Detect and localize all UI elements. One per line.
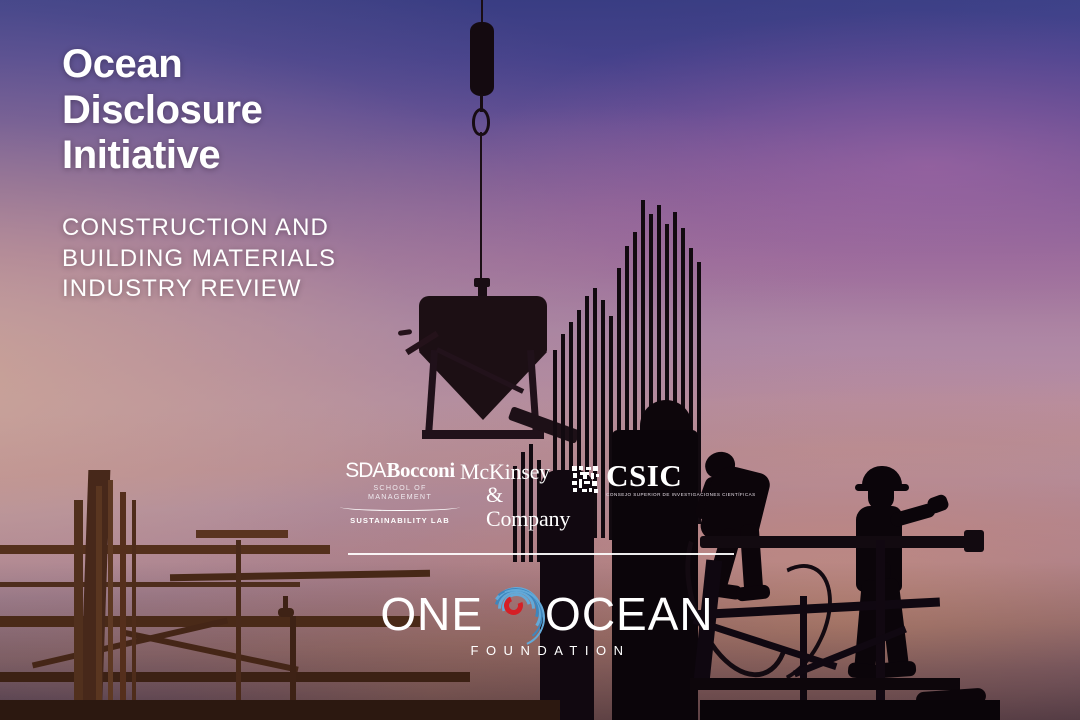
- oof-word-ocean: OCEAN: [545, 591, 714, 637]
- title-line-3: Initiative: [62, 133, 492, 179]
- scaffold-post-6: [236, 540, 241, 720]
- scaffold-rail-2: [0, 582, 300, 587]
- scaffold-working-deck: [690, 678, 960, 690]
- oof-word-one: ONE: [380, 591, 483, 637]
- one-ocean-foundation-logo: ONE OCEAN FOUNDATION: [392, 588, 702, 666]
- page-subtitle: CONSTRUCTION AND BUILDING MATERIALS INDU…: [62, 213, 492, 305]
- mckinsey-line-1: McKinsey: [460, 460, 570, 483]
- scaffold-post-1: [74, 500, 83, 720]
- scaffold-deck: [0, 700, 560, 720]
- sda-bocconi-wordmark: SDA Bocconi: [340, 460, 460, 481]
- subtitle-line-2: BUILDING MATERIALS: [62, 244, 492, 275]
- one-ocean-spiral-mark-icon: [487, 587, 541, 641]
- scaffold-rail-4: [0, 672, 470, 682]
- sda-bocconi-unit: SUSTAINABILITY LAB: [340, 516, 460, 525]
- cover-slide: Ocean Disclosure Initiative CONSTRUCTION…: [0, 0, 1080, 720]
- csic-emblem-icon: [570, 464, 600, 494]
- csic-tagline: CONSEJO SUPERIOR DE INVESTIGACIONES CIEN…: [606, 493, 756, 498]
- scaffold-post-5: [132, 500, 136, 720]
- scaffold-post-3: [108, 480, 113, 720]
- csic-wordmark: CSIC: [606, 460, 756, 491]
- scaffold-standard-post: [876, 540, 885, 720]
- guard-rail: [700, 536, 980, 548]
- guard-rail-cap: [964, 530, 984, 552]
- csic-text-block: CSIC CONSEJO SUPERIOR DE INVESTIGACIONES…: [606, 460, 756, 498]
- scaffold-top-beam: [196, 530, 288, 538]
- page-title: Ocean Disclosure Initiative: [62, 42, 492, 179]
- sda-bocconi-prefix: SDA: [345, 460, 385, 481]
- title-line-1: Ocean: [62, 42, 492, 88]
- mckinsey-line-2: & Company: [460, 483, 570, 530]
- scaffold-rail-1: [0, 545, 330, 554]
- sda-bocconi-name: Bocconi: [386, 460, 454, 481]
- scaffold-post-2: [96, 486, 102, 720]
- scaffold-lower-deck: [700, 700, 1000, 720]
- scaffold-post-4: [120, 492, 126, 720]
- sda-bocconi-logo: SDA Bocconi SCHOOL OF MANAGEMENT SUSTAIN…: [340, 460, 460, 525]
- sda-bocconi-swoosh-icon: [340, 503, 460, 511]
- oof-word-foundation: FOUNDATION: [392, 643, 702, 658]
- partner-logo-row: SDA Bocconi SCHOOL OF MANAGEMENT SUSTAIN…: [340, 460, 740, 526]
- csic-logo: CSIC CONSEJO SUPERIOR DE INVESTIGACIONES…: [570, 460, 756, 498]
- one-ocean-wordmark-row: ONE OCEAN: [392, 588, 702, 640]
- bucket-frame-bottom: [422, 430, 544, 439]
- subtitle-line-1: CONSTRUCTION AND: [62, 213, 492, 244]
- title-line-2: Disclosure: [62, 88, 492, 134]
- sda-bocconi-tagline: SCHOOL OF MANAGEMENT: [340, 483, 460, 501]
- mckinsey-logo: McKinsey & Company: [460, 460, 570, 530]
- subtitle-line-3: INDUSTRY REVIEW: [62, 274, 492, 305]
- divider: [348, 553, 734, 555]
